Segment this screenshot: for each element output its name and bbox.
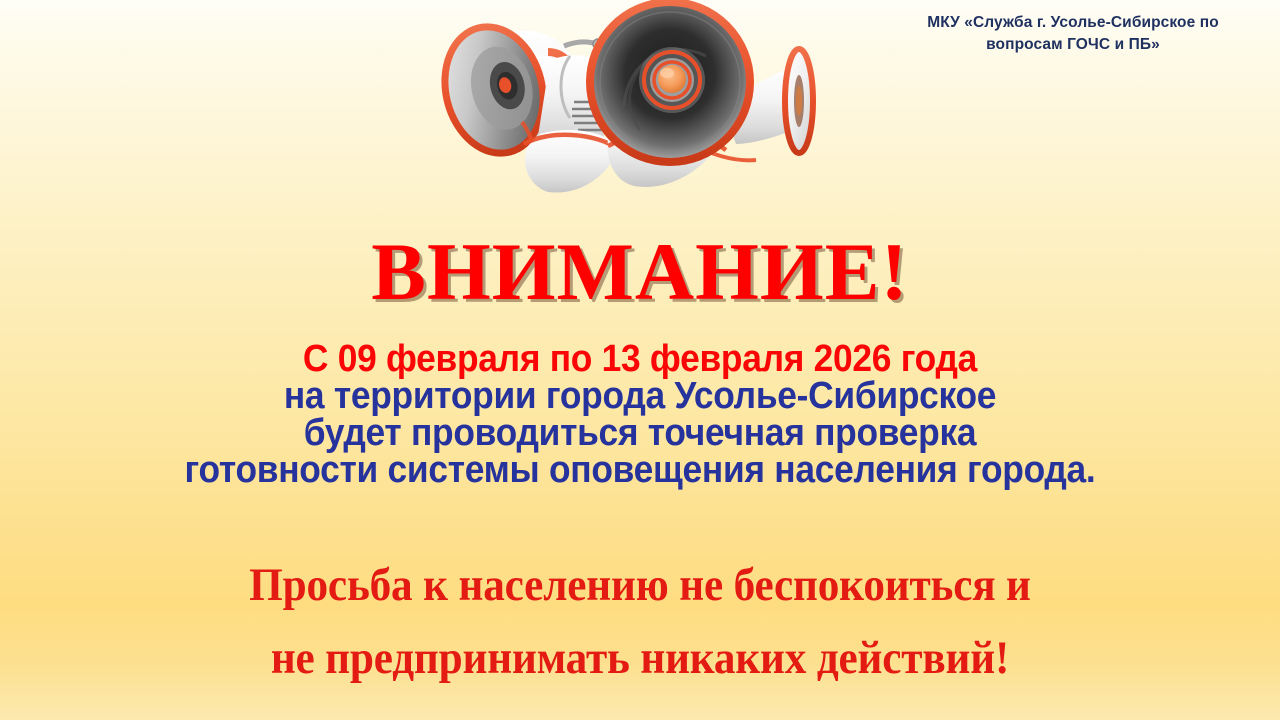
organization-header-line-1: МКУ «Служба г. Усолье-Сибирское по	[878, 12, 1268, 34]
appeal-line-1: Просьба к населению не беспокоиться и	[51, 549, 1229, 622]
appeal-line-2: не предпринимать никаких действий!	[51, 622, 1229, 695]
loudspeaker-horns-icon	[352, 0, 862, 206]
announcement-line-action: будет проводиться точечная проверка	[45, 415, 1235, 452]
loudspeaker-horns-illustration	[352, 0, 862, 206]
organization-header-line-2: вопросам ГОЧС и ПБ»	[878, 34, 1268, 56]
announcement-line-subject: готовности системы оповещения населения …	[45, 452, 1235, 489]
organization-header: МКУ «Служба г. Усолье-Сибирское по вопро…	[878, 12, 1268, 56]
announcement-body: С 09 февраля по 13 февраля 2026 года на …	[0, 341, 1280, 489]
announcement-line-dates: С 09 февраля по 13 февраля 2026 года	[45, 341, 1235, 378]
announcement-poster: МКУ «Служба г. Усолье-Сибирское по вопро…	[0, 0, 1280, 720]
announcement-appeal: Просьба к населению не беспокоиться и не…	[0, 549, 1280, 695]
page-title: ВНИМАНИЕ!	[0, 229, 1280, 315]
announcement-line-location: на территории города Усолье-Сибирское	[45, 378, 1235, 415]
